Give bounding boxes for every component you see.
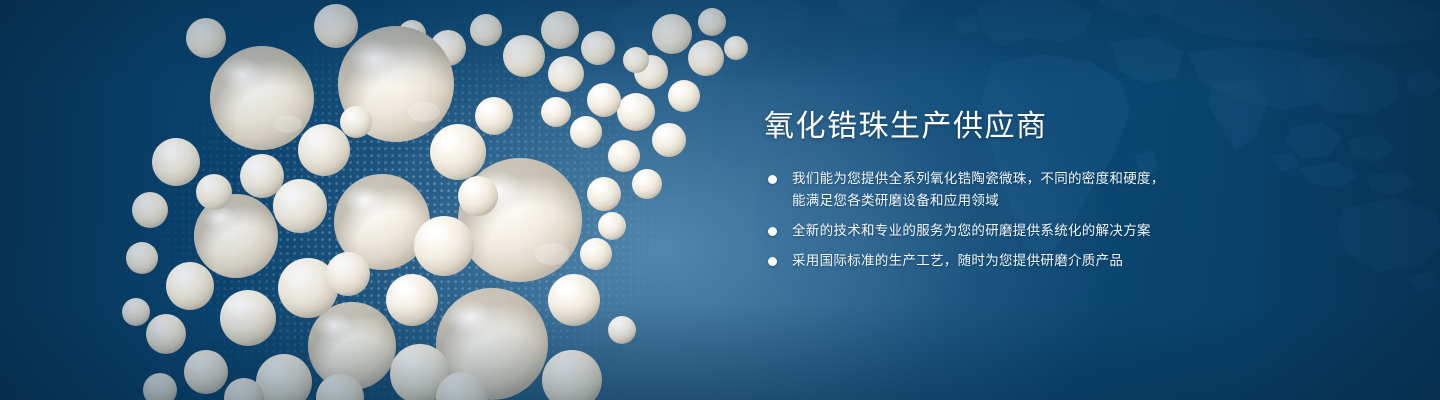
bullet-dot-icon <box>768 257 777 266</box>
bullet-line: 我们能为您提供全系列氧化锆陶瓷微珠，不同的密度和硬度， <box>792 168 1234 190</box>
bullet-line: 能满足您各类研磨设备和应用领域 <box>792 190 1234 212</box>
bullet-line: 全新的技术和专业的服务为您的研磨提供系统化的解决方案 <box>792 220 1234 242</box>
list-item: 全新的技术和专业的服务为您的研磨提供系统化的解决方案 <box>764 220 1234 242</box>
list-item: 采用国际标准的生产工艺，随时为您提供研磨介质产品 <box>764 250 1234 272</box>
banner-bullet-list: 我们能为您提供全系列氧化锆陶瓷微珠，不同的密度和硬度， 能满足您各类研磨设备和应… <box>764 168 1234 272</box>
banner-content: 氧化锆珠生产供应商 我们能为您提供全系列氧化锆陶瓷微珠，不同的密度和硬度， 能满… <box>764 0 1234 400</box>
banner-headline: 氧化锆珠生产供应商 <box>764 108 1048 146</box>
bullet-dot-icon <box>768 227 777 236</box>
list-item: 我们能为您提供全系列氧化锆陶瓷微珠，不同的密度和硬度， 能满足您各类研磨设备和应… <box>764 168 1234 212</box>
hero-banner: 氧化锆珠生产供应商 我们能为您提供全系列氧化锆陶瓷微珠，不同的密度和硬度， 能满… <box>0 0 1440 400</box>
bullet-dot-icon <box>768 175 777 184</box>
bullet-line: 采用国际标准的生产工艺，随时为您提供研磨介质产品 <box>792 250 1234 272</box>
